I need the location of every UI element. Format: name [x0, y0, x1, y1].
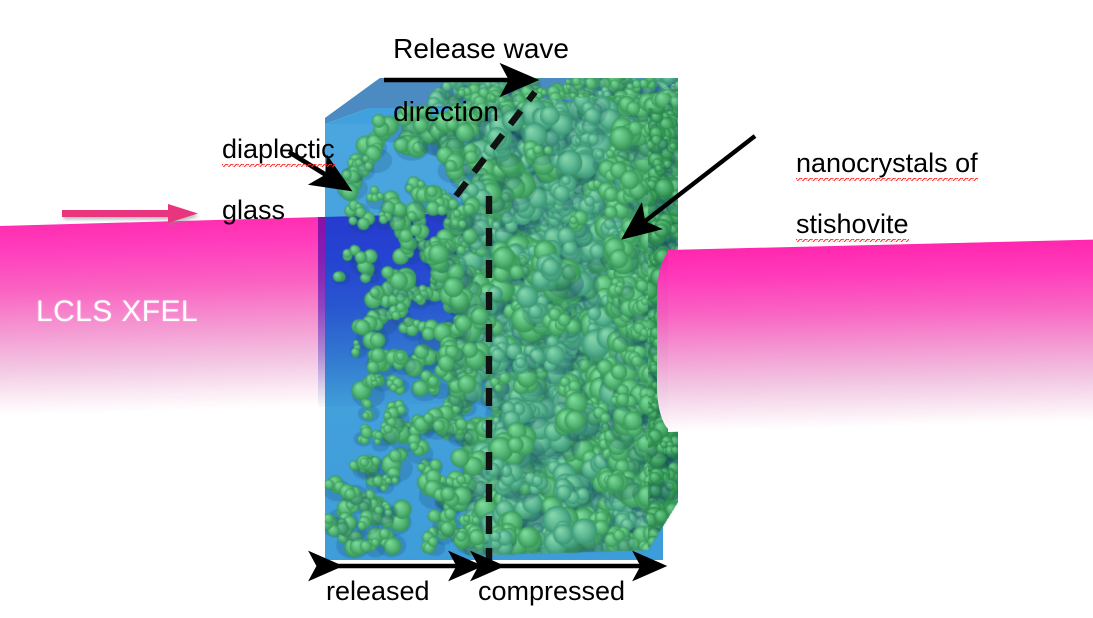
nanocrystals-line2: stishovite — [796, 209, 909, 242]
release-wave-line2: direction — [393, 96, 499, 127]
nanocrystals-line1: nanocrystals of — [796, 148, 978, 181]
compressed-region-label: compressed — [478, 576, 625, 606]
release-wave-label: Release wave direction — [362, 2, 569, 159]
released-region-label: released — [326, 576, 430, 606]
figure-canvas: LCLS XFEL — [0, 0, 1093, 618]
nanocrystals-label: nanocrystals of stishovite — [766, 118, 978, 269]
diaplectic-glass-label: diaplectic glass — [192, 104, 335, 255]
beam-label: LCLS XFEL — [36, 295, 198, 329]
diaplectic-glass-line2: glass — [222, 195, 285, 225]
release-wave-line1: Release wave — [393, 33, 569, 64]
diaplectic-glass-line1: diaplectic — [222, 134, 335, 167]
beam-direction-arrow-icon — [60, 202, 200, 230]
